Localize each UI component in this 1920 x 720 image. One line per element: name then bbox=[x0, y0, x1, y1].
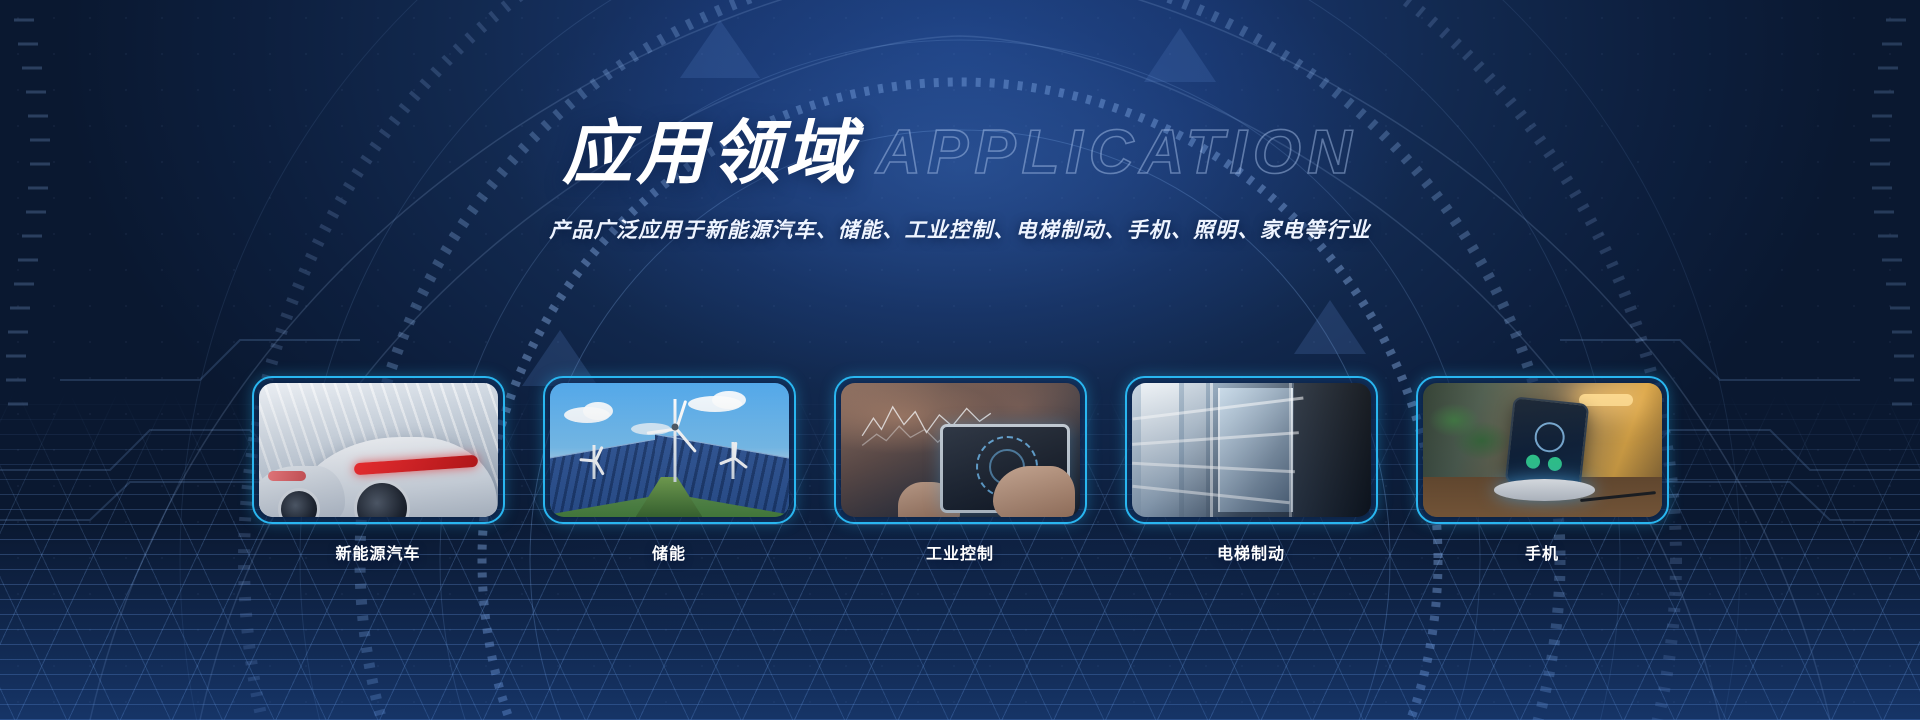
application-banner: 应用领域 APPLICATION 产品广泛应用于新能源汽车、储能、工业控制、电梯… bbox=[0, 0, 1920, 720]
card-frame[interactable] bbox=[1416, 376, 1669, 524]
page-title-en: APPLICATION bbox=[876, 122, 1358, 184]
card-label: 电梯制动 bbox=[1125, 540, 1378, 564]
application-card-ev-car[interactable]: 新能源汽车 bbox=[252, 376, 505, 564]
industrial-control-icon bbox=[841, 383, 1080, 517]
banner-header: 应用领域 APPLICATION 产品广泛应用于新能源汽车、储能、工业控制、电梯… bbox=[0, 118, 1920, 244]
wind-solar-icon bbox=[550, 383, 789, 517]
application-card-industrial-control[interactable]: 工业控制 bbox=[834, 376, 1087, 564]
card-frame[interactable] bbox=[252, 376, 505, 524]
page-title-cn: 应用领域 bbox=[562, 118, 858, 188]
title-row: 应用领域 APPLICATION bbox=[0, 118, 1920, 188]
application-card-energy-storage[interactable]: 储能 bbox=[543, 376, 796, 564]
card-label: 新能源汽车 bbox=[252, 540, 505, 564]
application-card-list: 新能源汽车 bbox=[0, 376, 1920, 564]
application-card-smartphone[interactable]: 手机 bbox=[1416, 376, 1669, 564]
card-frame[interactable] bbox=[543, 376, 796, 524]
card-frame[interactable] bbox=[1125, 376, 1378, 524]
elevator-icon bbox=[1132, 383, 1371, 517]
card-label: 储能 bbox=[543, 540, 796, 564]
card-frame[interactable] bbox=[834, 376, 1087, 524]
application-card-elevator[interactable]: 电梯制动 bbox=[1125, 376, 1378, 564]
page-subtitle: 产品广泛应用于新能源汽车、储能、工业控制、电梯制动、手机、照明、家电等行业 bbox=[0, 214, 1920, 244]
card-label: 工业控制 bbox=[834, 540, 1087, 564]
smartphone-charging-icon bbox=[1423, 383, 1662, 517]
ev-car-icon bbox=[259, 383, 498, 517]
card-label: 手机 bbox=[1416, 540, 1669, 564]
